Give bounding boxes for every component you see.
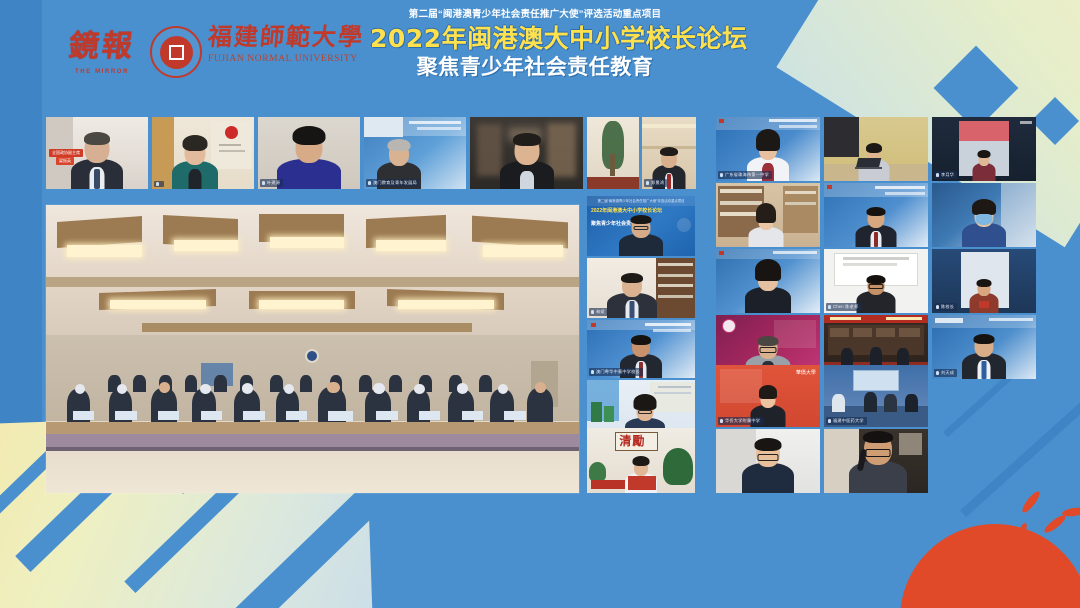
speaker-tile-4[interactable]: 澳门教育及青年发展局: [364, 117, 466, 189]
mic-icon: [828, 305, 831, 310]
mic-icon: [262, 181, 265, 186]
mic-icon: [156, 182, 159, 187]
grid-tile-r1c3[interactable]: 李月华: [932, 117, 1036, 181]
speaker-nametag: 郑景鸿: [644, 179, 667, 187]
channel-logo-icon: [591, 323, 596, 327]
fnu-logo-en: FUJIAN NORMAL UNIVERSITY: [208, 54, 364, 64]
center-tile-nametag: 林斌: [589, 308, 608, 316]
hksar-emblem-icon: [225, 126, 238, 139]
center-tile-1[interactable]: 第二届“闽港澳青少年社会责任推广大使”评选活动重点项目 2022年闽港澳大中小学…: [587, 196, 695, 256]
speaker-nametag: [154, 181, 164, 188]
speaker-tile-3[interactable]: 叶建源: [258, 117, 360, 189]
mic-icon: [720, 173, 723, 178]
university-seal-icon: [150, 26, 202, 78]
grid-tile-nametag: 华侨大学附属中学: [718, 417, 763, 425]
event-kicker: 第二届“闽港澳青少年社会责任推广大使”评选活动重点项目: [370, 8, 700, 21]
grid-tile-nametag: 陈校长: [934, 303, 957, 311]
grid-tile-r4c3[interactable]: 刘天成: [932, 315, 1036, 379]
speaker-tile-6[interactable]: [587, 117, 639, 189]
header: 鏡報 THE MIRROR 福建師範大學 FUJIAN NORMAL UNIVE…: [0, 0, 1080, 108]
university-mark: 華僑大學: [796, 369, 816, 377]
grid-tile-r3c2[interactable]: Chen 陈老师: [824, 249, 928, 313]
event-title: 2022年闽港澳大中小学校长论坛: [370, 25, 700, 53]
mic-icon: [591, 370, 594, 375]
mirror-magazine-logo: 鏡報 THE MIRROR: [56, 22, 148, 84]
speaker-tile-1[interactable]: 全国政协副主席 梁振英: [46, 117, 148, 189]
grid-tile-r2c1[interactable]: [716, 183, 820, 247]
mic-icon: [591, 310, 594, 315]
center-tile-5[interactable]: 清勵: [587, 428, 695, 493]
grid-tile-r2c3[interactable]: [932, 183, 1036, 247]
grid-tile-r2c2[interactable]: [824, 183, 928, 247]
center-tile-overlay-kicker: 第二届“闽港澳青少年社会责任推广大使”评选活动重点项目: [593, 198, 689, 203]
grid-tile-r5c1[interactable]: 華僑大學 华侨大学附属中学: [716, 365, 820, 427]
mic-icon: [936, 371, 939, 376]
grid-tile-r6c2[interactable]: [824, 429, 928, 493]
fnu-logo-cn: 福建師範大學: [207, 24, 365, 50]
speaker-tile-7[interactable]: 郑景鸿: [642, 117, 696, 189]
fujian-normal-university-logo: 福建師範大學 FUJIAN NORMAL UNIVERSITY: [150, 18, 356, 88]
sun-graphic-icon: [870, 492, 1080, 608]
grid-tile-r3c3[interactable]: 陈校长: [932, 249, 1036, 313]
center-tile-2[interactable]: 林斌: [587, 258, 695, 318]
event-title-block: 第二届“闽港澳青少年社会责任推广大使”评选活动重点项目 2022年闽港澳大中小学…: [370, 8, 700, 80]
main-conference-room-tile[interactable]: [46, 205, 579, 493]
center-tile-overlay-title: 2022年闽港澳大中小学校长论坛: [591, 208, 662, 216]
mirror-logo-cn: 鏡報: [67, 32, 136, 62]
speaker-tile-5[interactable]: [470, 117, 583, 189]
mic-icon: [828, 419, 831, 424]
grid-tile-nametag: 刘天成: [934, 369, 957, 377]
grid-tile-nametag: 李月华: [934, 171, 957, 179]
grid-tile-r3c1[interactable]: [716, 249, 820, 313]
mic-icon: [720, 419, 723, 424]
conference-broadcast-screen: 鏡報 THE MIRROR 福建師範大學 FUJIAN NORMAL UNIVE…: [0, 0, 1080, 608]
channel-logo-icon: [827, 185, 832, 189]
grid-tile-nametag: 福建中医药大学: [826, 417, 867, 425]
speaker-red-label: 全国政协副主席: [49, 149, 83, 157]
mic-icon: [646, 181, 649, 186]
mic-icon: [936, 305, 939, 310]
bottom-right-stripe-1: [960, 390, 1080, 517]
grid-tile-nametag: 广东省珠海市第一中学: [718, 171, 772, 179]
speaker-nametag: 澳门教育及青年发展局: [366, 179, 420, 187]
channel-logo-icon: [719, 251, 724, 255]
grid-tile-nametag: Chen 陈老师: [826, 303, 861, 311]
mic-icon: [368, 181, 371, 186]
mic-icon: [936, 173, 939, 178]
speaker-tile-2[interactable]: [152, 117, 254, 189]
emblem-icon: [722, 319, 736, 333]
event-subtitle: 聚焦青少年社会责任教育: [370, 56, 700, 80]
channel-logo-icon: [719, 119, 724, 123]
center-tile-nametag: 澳门粤华中葡中学校长: [589, 368, 643, 376]
calligraphy-text: 清勵: [619, 435, 651, 448]
grid-tile-r5c2[interactable]: 福建中医药大学: [824, 365, 928, 427]
grid-tile-r1c1[interactable]: 广东省珠海市第一中学: [716, 117, 820, 181]
speaker-nametag: 叶建源: [260, 179, 283, 187]
center-tile-3[interactable]: 澳门粤华中葡中学校长: [587, 320, 695, 378]
grid-tile-r6c1[interactable]: [716, 429, 820, 493]
plant-icon: [663, 448, 693, 486]
grid-tile-r1c2[interactable]: [824, 117, 928, 181]
mirror-logo-en: THE MIRROR: [75, 69, 129, 75]
wall-emblem-icon: [305, 349, 319, 363]
speaker-red-name: 梁振英: [56, 157, 74, 165]
